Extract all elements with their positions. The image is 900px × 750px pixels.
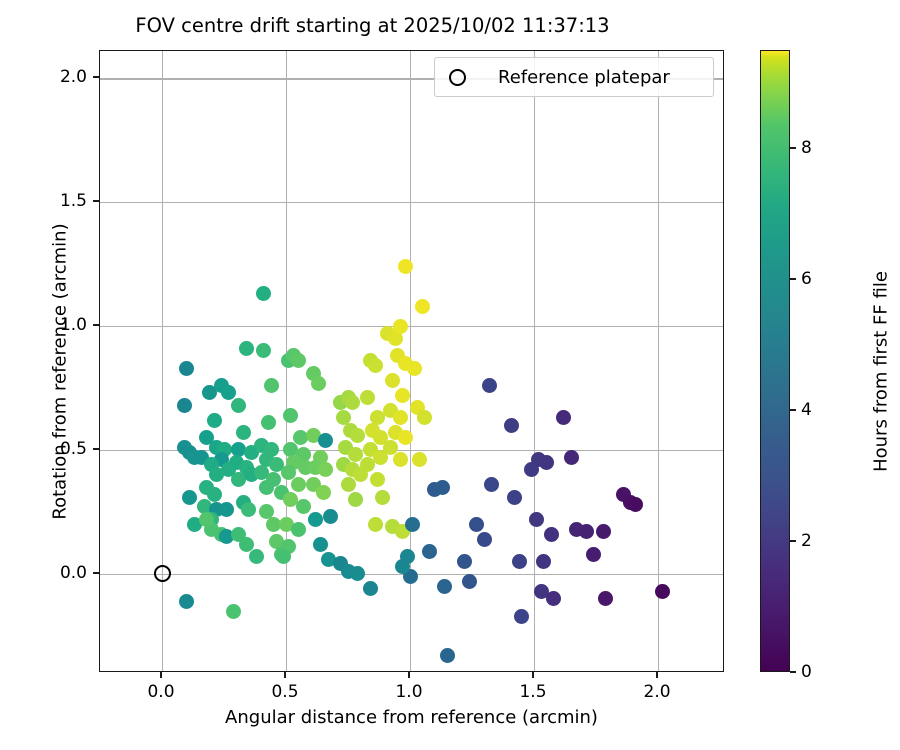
y-tick-label-3: 1.5 (0, 191, 87, 211)
colorbar-tick-label-3: 6 (801, 269, 812, 289)
colorbar-tick-3 (790, 278, 796, 280)
colorbar-tick-label-0: 0 (801, 662, 812, 682)
colorbar-tick-label-1: 2 (801, 531, 812, 551)
y-tick-label-1: 0.5 (0, 439, 87, 459)
colorbar-tick-label-2: 4 (801, 400, 812, 420)
x-tick-label-3: 1.5 (519, 682, 546, 702)
x-tick-4 (656, 672, 658, 678)
x-tick-1 (284, 672, 286, 678)
y-tick-1 (93, 448, 99, 450)
figure-canvas: FOV centre drift starting at 2025/10/02 … (0, 0, 900, 750)
x-tick-3 (532, 672, 534, 678)
x-tick-label-2: 1.0 (395, 682, 422, 702)
colorbar-tick-1 (790, 540, 796, 542)
y-tick-label-2: 1.0 (0, 315, 87, 335)
colorbar-tick-4 (790, 147, 796, 149)
y-tick-label-4: 2.0 (0, 67, 87, 87)
y-tick-4 (93, 76, 99, 78)
x-tick-label-4: 2.0 (644, 682, 671, 702)
x-tick-2 (408, 672, 410, 678)
colorbar-tick-0 (790, 671, 796, 673)
colorbar-label: Hours from first FF file (871, 60, 892, 684)
legend: Reference platepar (434, 57, 714, 97)
page-title: FOV centre drift starting at 2025/10/02 … (0, 14, 745, 37)
colorbar: 02468 (760, 50, 790, 672)
y-tick-2 (93, 324, 99, 326)
colorbar-gradient (760, 50, 790, 672)
x-tick-label-1: 0.5 (271, 682, 298, 702)
y-tick-0 (93, 572, 99, 574)
reference-marker-layer (100, 51, 723, 671)
x-axis-label: Angular distance from reference (arcmin) (99, 707, 724, 728)
y-tick-label-0: 0.0 (0, 563, 87, 583)
legend-label: Reference platepar (498, 67, 670, 88)
colorbar-tick-2 (790, 409, 796, 411)
legend-open-circle-icon (449, 69, 466, 86)
colorbar-tick-label-4: 8 (801, 138, 812, 158)
reference-platepar-marker (154, 565, 171, 582)
y-axis-label: Rotation from reference (arcmin) (50, 60, 71, 684)
x-tick-0 (160, 672, 162, 678)
y-tick-3 (93, 200, 99, 202)
x-tick-label-0: 0.0 (147, 682, 174, 702)
plot-axes (99, 50, 724, 672)
